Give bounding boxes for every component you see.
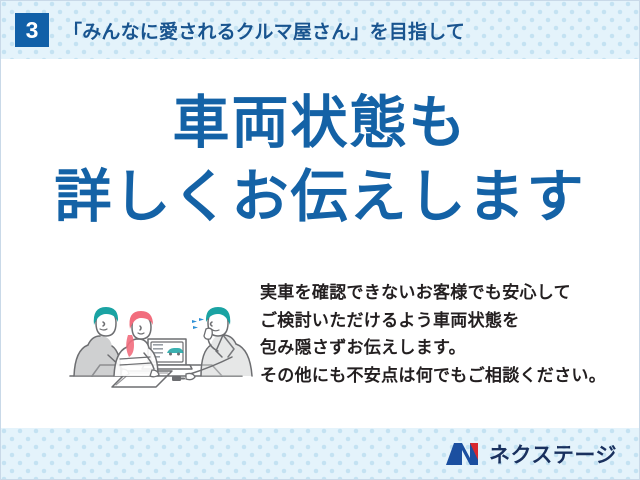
brand-name: ネクステージ xyxy=(489,439,617,469)
body-copy-line-2: ご検討いただけるよう車両状態を xyxy=(260,307,639,335)
header-content: 3 「みんなに愛されるクルマ屋さん」を目指して xyxy=(1,1,639,59)
content-row: 実車を確認できないお客様でも安心して ご検討いただけるよう車両状態を 包み隠さず… xyxy=(1,273,639,413)
headline-block: 車両状態も 詳しくお伝えします xyxy=(1,93,639,228)
brand-lockup: ネクステージ xyxy=(445,439,617,469)
staff-member xyxy=(186,307,252,380)
headline-line-1: 車両状態も xyxy=(1,93,639,153)
consultation-illustration-svg xyxy=(56,277,256,405)
footer-content: ネクステージ xyxy=(1,428,639,479)
step-number-badge: 3 xyxy=(15,13,49,47)
body-copy: 実車を確認できないお客様でも安心して ご検討いただけるよう車両状態を 包み隠さず… xyxy=(260,279,639,389)
consultation-illustration xyxy=(56,277,256,405)
header-title: 「みんなに愛されるクルマ屋さん」を目指して xyxy=(63,17,465,44)
header-band: 3 「みんなに愛されるクルマ屋さん」を目指して xyxy=(1,1,639,59)
speech-sparkle-icon xyxy=(192,318,204,329)
body-copy-line-4: その他にも不安点は何でもご相談ください。 xyxy=(260,362,639,390)
body-copy-line-1: 実車を確認できないお客様でも安心して xyxy=(260,279,639,307)
body-copy-line-3: 包み隠さずお伝えします。 xyxy=(260,334,639,362)
advertisement-banner: 3 「みんなに愛されるクルマ屋さん」を目指して 車両状態も 詳しくお伝えします xyxy=(0,0,640,480)
footer-band: ネクステージ xyxy=(1,428,639,479)
headline-line-2: 詳しくお伝えします xyxy=(1,167,639,227)
nextage-n-logo-icon xyxy=(445,441,481,467)
